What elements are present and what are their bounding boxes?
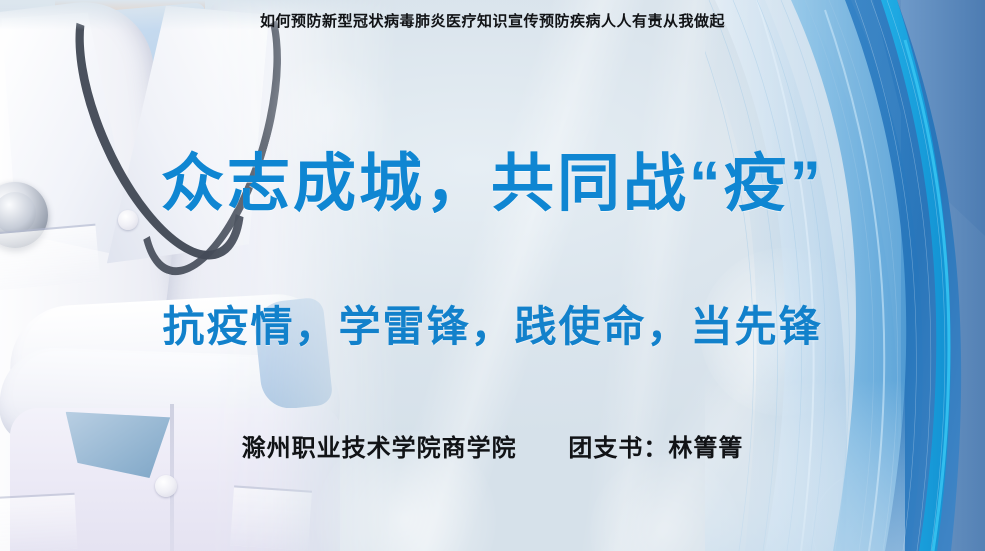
blue-ribbon-artwork	[705, 0, 985, 551]
page-header-text: 如何预防新型冠状病毒肺炎医疗知识宣传预防疾病人人有责从我做起	[0, 10, 985, 31]
main-title: 众志成城，共同战“疫”	[0, 133, 985, 224]
sub-title: 抗疫情，学雷锋，践使命，当先锋	[0, 293, 985, 354]
lab-coat-hip-pocket-left	[0, 493, 77, 551]
presenter-name: 团支书：林箐箐	[568, 435, 743, 462]
organization-name: 滁州职业技术学院商学院	[242, 435, 517, 462]
presentation-slide: 如何预防新型冠状病毒肺炎医疗知识宣传预防疾病人人有责从我做起 众志成城，共同战“…	[0, 0, 985, 551]
lab-coat-hip-pocket-right	[230, 485, 312, 550]
lab-coat-button-lower	[155, 475, 177, 497]
credit-line: 滁州职业技术学院商学院 团支书：林箐箐	[0, 428, 985, 463]
lab-coat-chest-pocket	[0, 224, 100, 291]
doctor-photo	[0, 0, 400, 551]
